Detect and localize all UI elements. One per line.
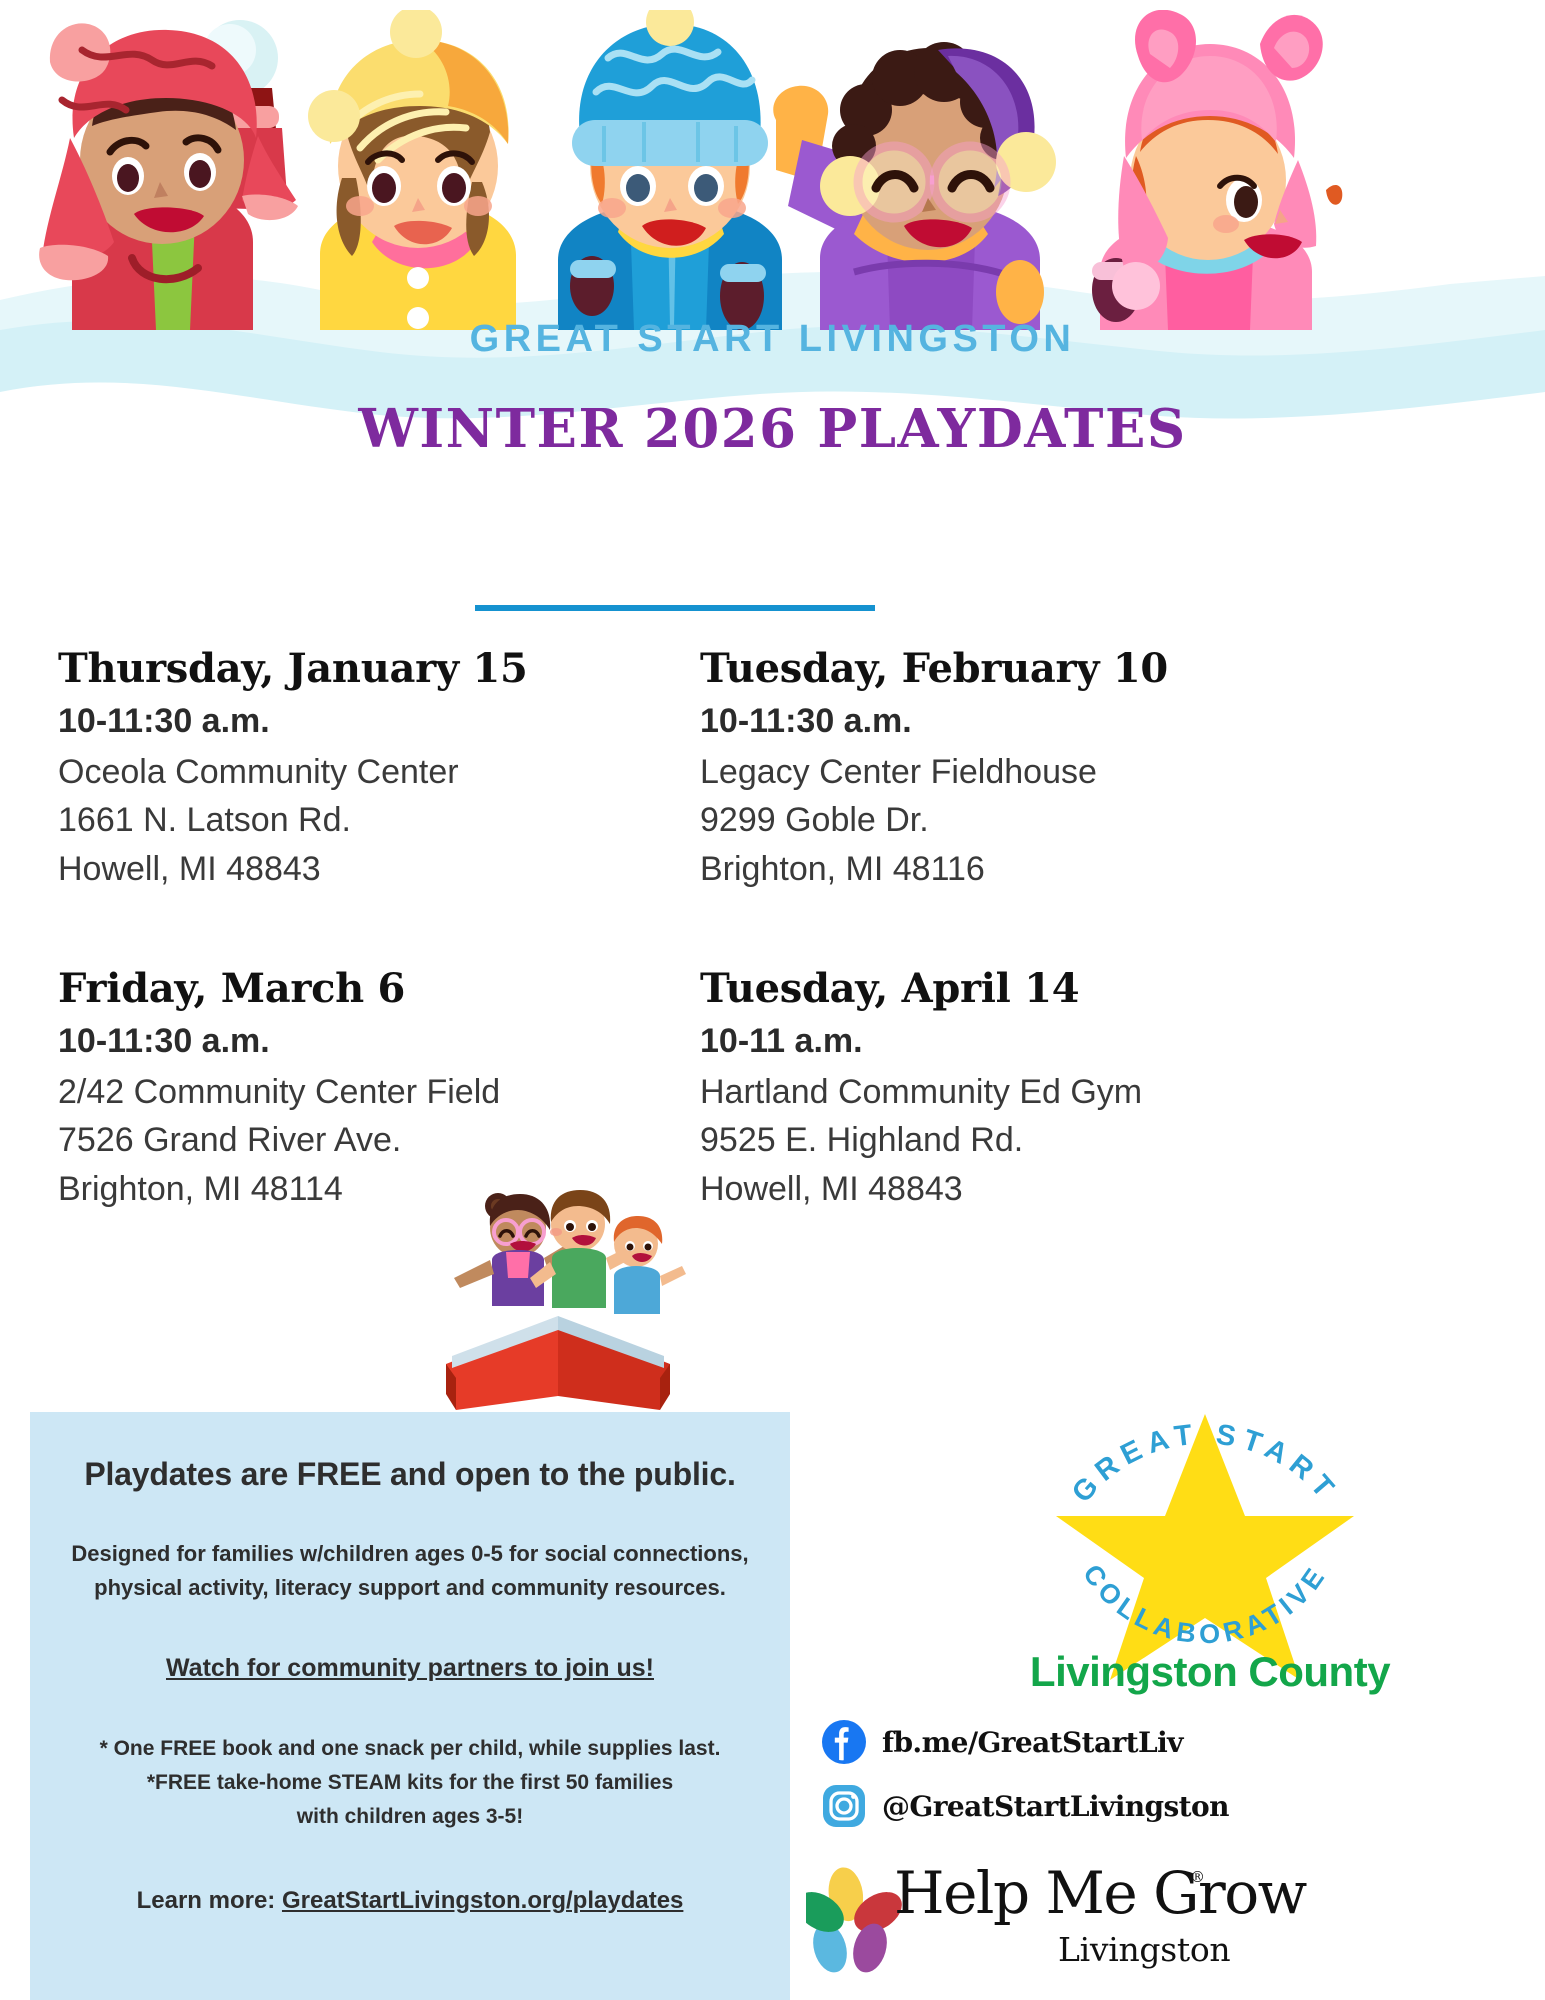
playdate-date: Tuesday, February 10 xyxy=(700,645,1168,692)
child-pink-hat-icon xyxy=(1030,10,1360,330)
header-banner: GREAT START LIVINGSTON xyxy=(0,0,1545,460)
playdate-date: Thursday, January 15 xyxy=(58,645,528,692)
gsc-county-label: Livingston County xyxy=(960,1648,1460,1696)
playdate-venue: Legacy Center Fieldhouse xyxy=(700,748,1168,796)
playdate-card: Tuesday, February 10 10-11:30 a.m. Legac… xyxy=(700,645,1168,893)
learn-more-link[interactable]: GreatStartLivingston.org/playdates xyxy=(282,1887,683,1914)
help-me-grow-subtitle: Livingston xyxy=(1058,1930,1230,1969)
playdate-time: 10-11:30 a.m. xyxy=(58,702,528,741)
child-red-hat-snowball-icon xyxy=(10,10,310,330)
playdate-street: 9299 Goble Dr. xyxy=(700,796,1168,844)
info-description-line-1: Designed for families w/children ages 0-… xyxy=(60,1537,760,1571)
info-description-line-2: physical activity, literacy support and … xyxy=(60,1571,760,1605)
registered-trademark-icon: ® xyxy=(1190,1868,1205,1886)
info-note-line-1: * One FREE book and one snack per child,… xyxy=(60,1732,760,1766)
playdate-street: 7526 Grand River Ave. xyxy=(58,1116,500,1164)
playdate-city: Howell, MI 48843 xyxy=(58,845,528,893)
playdate-venue: Oceola Community Center xyxy=(58,748,528,796)
instagram-icon[interactable] xyxy=(822,1784,866,1828)
learn-more-label: Learn more: xyxy=(137,1887,282,1914)
info-notes: * One FREE book and one snack per child,… xyxy=(60,1732,760,1834)
learn-more-row: Learn more: GreatStartLivingston.org/pla… xyxy=(60,1882,760,1919)
help-me-grow-wordmark: Help Me Grow xyxy=(894,1864,1306,1922)
playdate-venue: 2/42 Community Center Field xyxy=(58,1068,500,1116)
playdate-street: 9525 E. Highland Rd. xyxy=(700,1116,1142,1164)
facebook-row[interactable]: fb.me/GreatStartLiv xyxy=(822,1720,1183,1764)
great-start-collaborative-logo: GREAT START COLLABORATIVE xyxy=(1020,1380,1390,1680)
organization-name: GREAT START LIVINGSTON xyxy=(0,318,1545,361)
playdate-card: Friday, March 6 10-11:30 a.m. 2/42 Commu… xyxy=(58,965,500,1213)
playdate-card: Thursday, January 15 10-11:30 a.m. Oceol… xyxy=(58,645,528,893)
logo-column: GREAT START COLLABORATIVE Livingston Cou… xyxy=(800,1380,1545,2000)
instagram-row[interactable]: @GreatStartLivingston xyxy=(822,1784,1229,1828)
info-note-line-2: *FREE take-home STEAM kits for the first… xyxy=(60,1766,760,1800)
page-title: WINTER 2026 PLAYDATES xyxy=(0,398,1545,460)
playdate-date: Tuesday, April 14 xyxy=(700,965,1142,1012)
title-divider xyxy=(475,605,875,611)
playdate-card: Tuesday, April 14 10-11 a.m. Hartland Co… xyxy=(700,965,1142,1213)
instagram-handle[interactable]: @GreatStartLivingston xyxy=(882,1790,1229,1823)
facebook-icon[interactable] xyxy=(822,1720,866,1764)
info-note-line-3: with children ages 3-5! xyxy=(60,1800,760,1834)
info-headline: Playdates are FREE and open to the publi… xyxy=(60,1456,760,1493)
playdate-time: 10-11 a.m. xyxy=(700,1022,1142,1061)
playdate-time: 10-11:30 a.m. xyxy=(58,1022,500,1061)
kids-reading-book-illustration xyxy=(432,1182,692,1412)
info-description: Designed for families w/children ages 0-… xyxy=(60,1537,760,1605)
kids-illustration-row xyxy=(0,0,1545,330)
playdates-grid: Thursday, January 15 10-11:30 a.m. Oceol… xyxy=(0,645,1545,1265)
playdate-time: 10-11:30 a.m. xyxy=(700,702,1168,741)
playdate-venue: Hartland Community Ed Gym xyxy=(700,1068,1142,1116)
playdate-date: Friday, March 6 xyxy=(58,965,500,1012)
facebook-handle[interactable]: fb.me/GreatStartLiv xyxy=(882,1726,1183,1759)
playdate-city: Brighton, MI 48116 xyxy=(700,845,1168,893)
playdate-street: 1661 N. Latson Rd. xyxy=(58,796,528,844)
playdate-city: Howell, MI 48843 xyxy=(700,1165,1142,1213)
partners-note: Watch for community partners to join us! xyxy=(60,1649,760,1688)
info-panel: Playdates are FREE and open to the publi… xyxy=(30,1412,790,2000)
